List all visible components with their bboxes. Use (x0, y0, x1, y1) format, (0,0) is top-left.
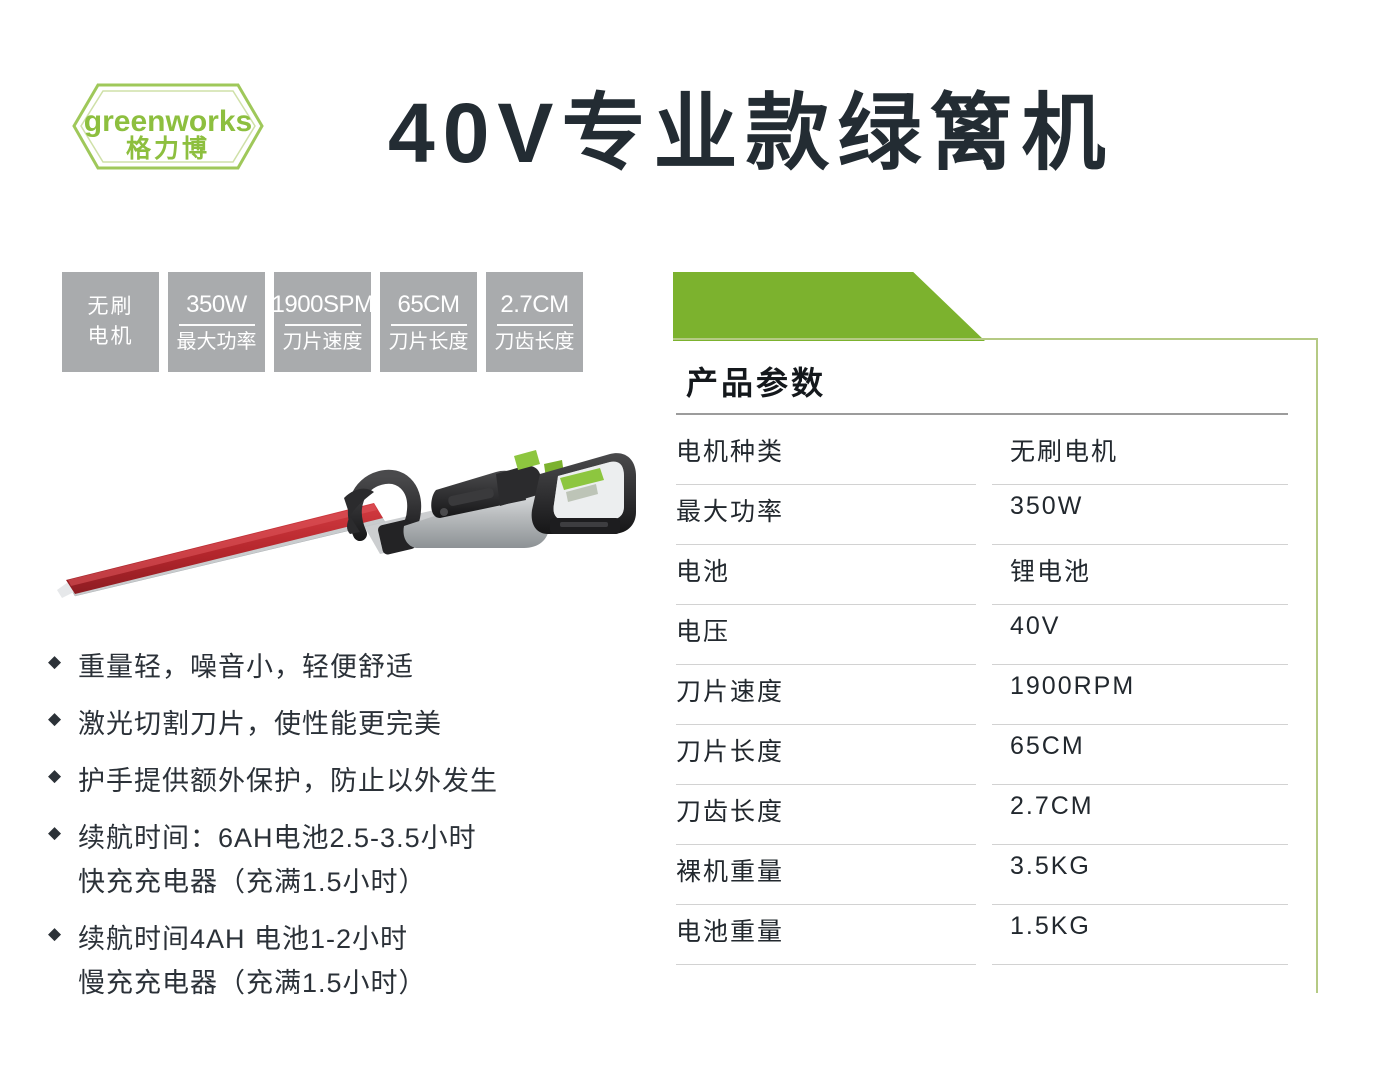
spec-card-banner (673, 272, 985, 341)
spec-row-label: 电压 (676, 606, 976, 665)
spec-badge-value-line2: 电机 (88, 322, 134, 352)
diamond-bullet-icon: ◆ (48, 710, 66, 727)
feature-item: ◆ 护手提供额外保护，防止以外发生 (48, 759, 648, 803)
spec-badge-divider (179, 324, 255, 326)
spec-row: 电池重量 1.5KG (676, 906, 1288, 966)
spec-badge: 1900SPM 刀片速度 (274, 272, 371, 372)
spec-badge-value: 2.7CM (500, 290, 568, 320)
spec-badge: 65CM 刀片长度 (380, 272, 477, 372)
spec-row-value: 锂电池 (992, 546, 1288, 605)
spec-badge-label: 刀片速度 (283, 329, 363, 355)
spec-row: 刀片长度 65CM (676, 726, 1288, 786)
spec-row-label: 刀片速度 (676, 666, 976, 725)
spec-card-title: 产品参数 (686, 358, 826, 404)
spec-table: 电机种类 无刷电机 最大功率 350W 电池 锂电池 电压 40V 刀片速度 1… (676, 426, 1288, 966)
spec-row: 刀片速度 1900RPM (676, 666, 1288, 726)
feature-text: 重量轻，噪音小，轻便舒适 (78, 645, 414, 689)
spec-row-gap (976, 666, 992, 725)
feature-list: ◆ 重量轻，噪音小，轻便舒适 ◆ 激光切割刀片，使性能更完美 ◆ 护手提供额外保… (48, 645, 648, 1018)
spec-row-label: 电机种类 (676, 426, 976, 485)
spec-row-gap (976, 426, 992, 485)
spec-row-label: 刀片长度 (676, 726, 976, 785)
spec-row-gap (976, 546, 992, 605)
spec-row-value: 无刷电机 (992, 426, 1288, 485)
spec-badge: 2.7CM 刀齿长度 (486, 272, 583, 372)
spec-row: 电池 锂电池 (676, 546, 1288, 606)
spec-badge: 350W 最大功率 (168, 272, 265, 372)
spec-badge-value: 350W (186, 290, 247, 320)
spec-badge-label: 刀齿长度 (495, 329, 575, 355)
feature-item: ◆ 续航时间4AH 电池1-2小时 慢充充电器（充满1.5小时） (48, 917, 648, 1005)
spec-badge-value: 65CM (397, 290, 459, 320)
spec-row: 最大功率 350W (676, 486, 1288, 546)
feature-item: ◆ 激光切割刀片，使性能更完美 (48, 702, 648, 746)
spec-badge-label: 刀片长度 (389, 329, 469, 355)
spec-badge: 无刷 电机 (62, 272, 159, 372)
spec-row-label: 电池 (676, 546, 976, 605)
spec-badge-strip: 无刷 电机 350W 最大功率 1900SPM 刀片速度 65CM 刀片长度 2… (62, 272, 583, 372)
feature-text: 续航时间4AH 电池1-2小时 慢充充电器（充满1.5小时） (78, 917, 427, 1005)
spec-row-gap (976, 606, 992, 665)
spec-row-value: 40V (992, 606, 1288, 665)
spec-row-label: 电池重量 (676, 906, 976, 965)
spec-badge-value: 无刷 (88, 292, 134, 322)
spec-row: 电机种类 无刷电机 (676, 426, 1288, 486)
spec-row-value: 1900RPM (992, 666, 1288, 725)
spec-badge-label: 最大功率 (177, 329, 257, 355)
spec-row-gap (976, 486, 992, 545)
diamond-bullet-icon: ◆ (48, 653, 66, 670)
spec-row-gap (976, 846, 992, 905)
spec-row-value: 1.5KG (992, 906, 1288, 965)
spec-row: 刀齿长度 2.7CM (676, 786, 1288, 846)
spec-row-value: 65CM (992, 726, 1288, 785)
spec-row-value: 350W (992, 486, 1288, 545)
spec-row: 电压 40V (676, 606, 1288, 666)
spec-card-rule (676, 413, 1288, 415)
spec-badge-divider (391, 324, 467, 326)
diamond-bullet-icon: ◆ (48, 925, 66, 942)
feature-text: 激光切割刀片，使性能更完美 (78, 702, 442, 746)
page-title: 40V专业款绿篱机 (388, 78, 1288, 188)
spec-row: 裸机重量 3.5KG (676, 846, 1288, 906)
spec-badge-value: 1900SPM (272, 290, 374, 320)
spec-row-label: 裸机重量 (676, 846, 976, 905)
spec-badge-divider (497, 324, 573, 326)
logo-chinese-name: 格力博 (126, 134, 210, 163)
feature-item: ◆ 重量轻，噪音小，轻便舒适 (48, 645, 648, 689)
spec-row-gap (976, 906, 992, 965)
spec-row-value: 2.7CM (992, 786, 1288, 845)
spec-row-label: 最大功率 (676, 486, 976, 545)
spec-row-gap (976, 726, 992, 785)
feature-item: ◆ 续航时间：6AH电池2.5-3.5小时 快充充电器（充满1.5小时） (48, 816, 648, 904)
feature-text: 续航时间：6AH电池2.5-3.5小时 快充充电器（充满1.5小时） (78, 816, 477, 904)
logo-wordmark: greenworks (84, 105, 252, 138)
spec-badge-divider (285, 324, 361, 326)
product-image (44, 430, 644, 630)
diamond-bullet-icon: ◆ (48, 767, 66, 784)
spec-row-gap (976, 786, 992, 845)
spec-row-label: 刀齿长度 (676, 786, 976, 845)
greenworks-logo: greenworks 格力博 (68, 79, 268, 174)
product-detail-page: greenworks 格力博 40V专业款绿篱机 无刷 电机 350W 最大功率… (0, 0, 1374, 1080)
diamond-bullet-icon: ◆ (48, 824, 66, 841)
spec-row-value: 3.5KG (992, 846, 1288, 905)
feature-text: 护手提供额外保护，防止以外发生 (78, 759, 498, 803)
